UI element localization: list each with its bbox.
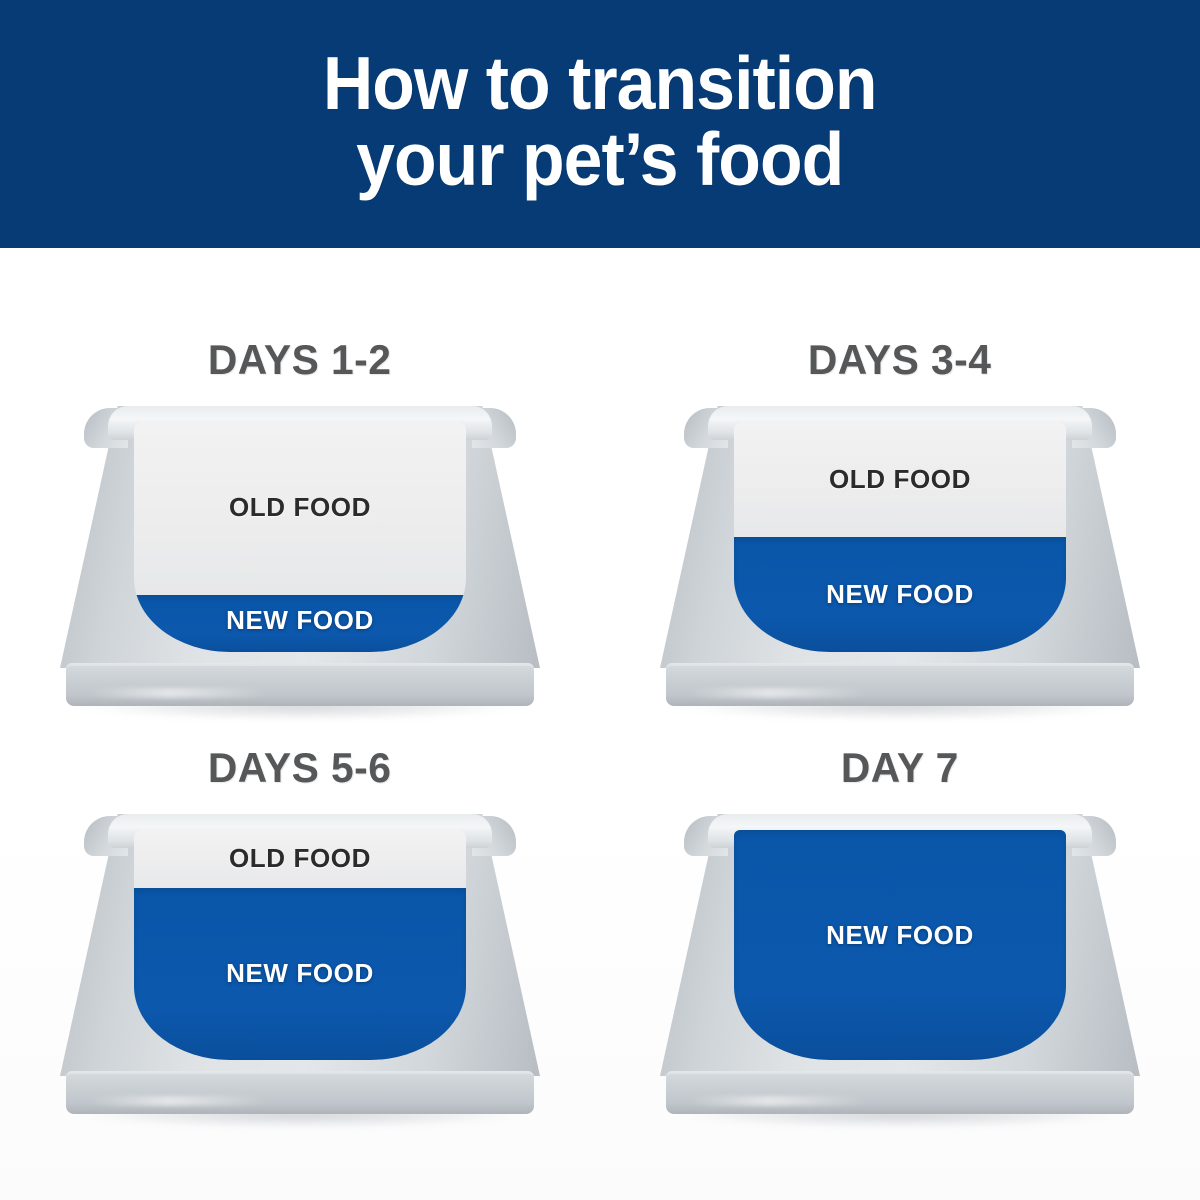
bowl-foot-shine (88, 688, 268, 698)
step-card-day-7: DAY 7 OLD FOOD NEW FOOD (600, 724, 1200, 1200)
title-line-1: How to transition (323, 41, 877, 125)
title-line-2: your pet’s food (323, 121, 877, 198)
bowl-foot-shine (688, 688, 868, 698)
bowl-foot-shine (88, 1096, 268, 1106)
bowl-cavity: OLD FOOD NEW FOOD (134, 422, 466, 652)
bowl-cavity: OLD FOOD NEW FOOD (734, 830, 1066, 1060)
bowl-cavity: OLD FOOD NEW FOOD (734, 422, 1066, 652)
step-card-days-5-6: DAYS 5-6 OLD FOOD NEW FOOD (0, 724, 600, 1200)
step-day-label: DAYS 1-2 (208, 336, 392, 384)
step-day-label: DAYS 3-4 (808, 336, 992, 384)
old-food-label: OLD FOOD (134, 843, 466, 874)
bowl-foot-shine (688, 1096, 868, 1106)
step-card-days-1-2: DAYS 1-2 OLD FOOD NEW FOOD (0, 248, 600, 724)
transition-steps-grid: DAYS 1-2 OLD FOOD NEW FOOD DAYS 3-4 (0, 248, 1200, 1200)
bowl-foot (66, 666, 534, 706)
new-food-label: NEW FOOD (734, 579, 1066, 610)
bowl-foot (66, 1074, 534, 1114)
new-food-label: NEW FOOD (134, 605, 466, 636)
bowl-cavity: OLD FOOD NEW FOOD (134, 830, 466, 1060)
step-day-label: DAY 7 (841, 744, 959, 792)
new-food-label: NEW FOOD (734, 920, 1066, 951)
food-bowl-day-7: OLD FOOD NEW FOOD (660, 814, 1140, 1114)
page-title: How to transition your pet’s food (323, 45, 877, 204)
bowl-foot (666, 666, 1134, 706)
old-food-label: OLD FOOD (134, 492, 466, 523)
header-banner: How to transition your pet’s food (0, 0, 1200, 248)
new-food-label: NEW FOOD (134, 958, 466, 989)
food-bowl-days-3-4: OLD FOOD NEW FOOD (660, 406, 1140, 706)
step-day-label: DAYS 5-6 (208, 744, 392, 792)
bowl-foot (666, 1074, 1134, 1114)
old-food-label: OLD FOOD (734, 464, 1066, 495)
main-content: DAYS 1-2 OLD FOOD NEW FOOD DAYS 3-4 (0, 248, 1200, 1200)
food-bowl-days-5-6: OLD FOOD NEW FOOD (60, 814, 540, 1114)
step-card-days-3-4: DAYS 3-4 OLD FOOD NEW FOOD (600, 248, 1200, 724)
food-bowl-days-1-2: OLD FOOD NEW FOOD (60, 406, 540, 706)
